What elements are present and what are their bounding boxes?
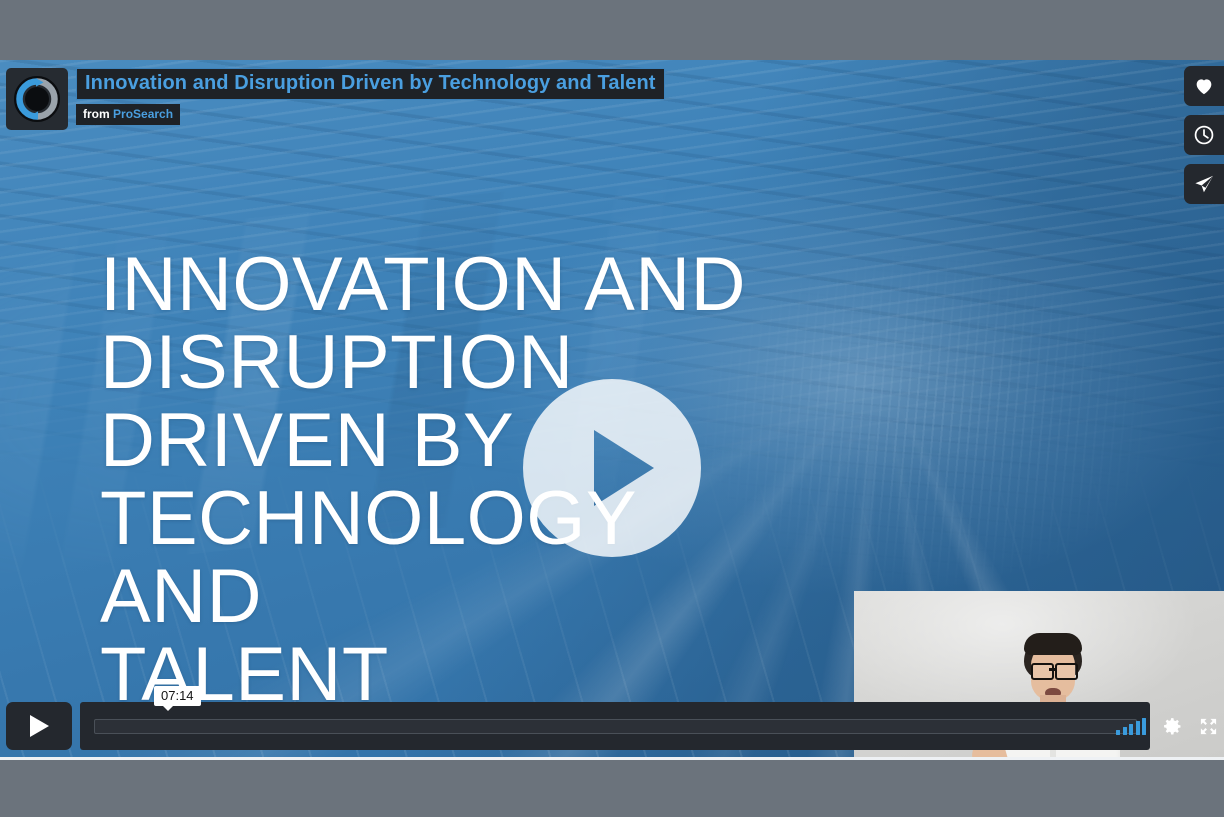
- time-tooltip: 07:14: [154, 686, 201, 706]
- side-action-group: [1178, 66, 1224, 204]
- play-icon: [26, 712, 52, 740]
- volume-bars-icon: [1116, 718, 1146, 735]
- volume-button[interactable]: [1116, 718, 1146, 735]
- progress-track[interactable]: [94, 719, 1137, 734]
- circular-refresh-ring-icon: [14, 76, 60, 122]
- gear-icon: [1162, 716, 1183, 737]
- clock-icon: [1193, 124, 1215, 146]
- fullscreen-icon: [1199, 717, 1218, 736]
- page-root: INNOVATION AND DISRUPTION DRIVEN BY TECH…: [0, 0, 1224, 817]
- share-button[interactable]: [1184, 164, 1224, 204]
- brand-text-group: Innovation and Disruption Driven by Tech…: [76, 68, 665, 125]
- big-play-button[interactable]: [522, 378, 702, 558]
- player-controls: 07:14: [0, 699, 1224, 757]
- heart-icon: [1193, 75, 1215, 97]
- presenter-glasses-left: [1031, 663, 1054, 680]
- right-controls-group: [1116, 702, 1218, 750]
- brand-logo[interactable]: [6, 68, 68, 130]
- paper-plane-icon: [1193, 173, 1215, 195]
- branding-bar: Innovation and Disruption Driven by Tech…: [6, 68, 665, 130]
- like-button[interactable]: [1184, 66, 1224, 106]
- presenter-glasses-bridge: [1049, 668, 1056, 671]
- video-player[interactable]: INNOVATION AND DISRUPTION DRIVEN BY TECH…: [0, 60, 1224, 757]
- settings-button[interactable]: [1162, 716, 1183, 737]
- presenter-glasses-right: [1055, 663, 1078, 680]
- brand-publisher-badge: from ProSearch: [76, 104, 180, 125]
- play-button[interactable]: [6, 702, 72, 750]
- presenter-hair-front: [1024, 633, 1082, 655]
- progress-bar[interactable]: 07:14: [80, 702, 1150, 750]
- fullscreen-button[interactable]: [1199, 717, 1218, 736]
- brand-from-label: from: [83, 107, 110, 121]
- player-bottom-edge: [0, 757, 1224, 760]
- brand-publisher-link[interactable]: ProSearch: [113, 107, 173, 121]
- brand-title[interactable]: Innovation and Disruption Driven by Tech…: [76, 68, 665, 100]
- watch-later-button[interactable]: [1184, 115, 1224, 155]
